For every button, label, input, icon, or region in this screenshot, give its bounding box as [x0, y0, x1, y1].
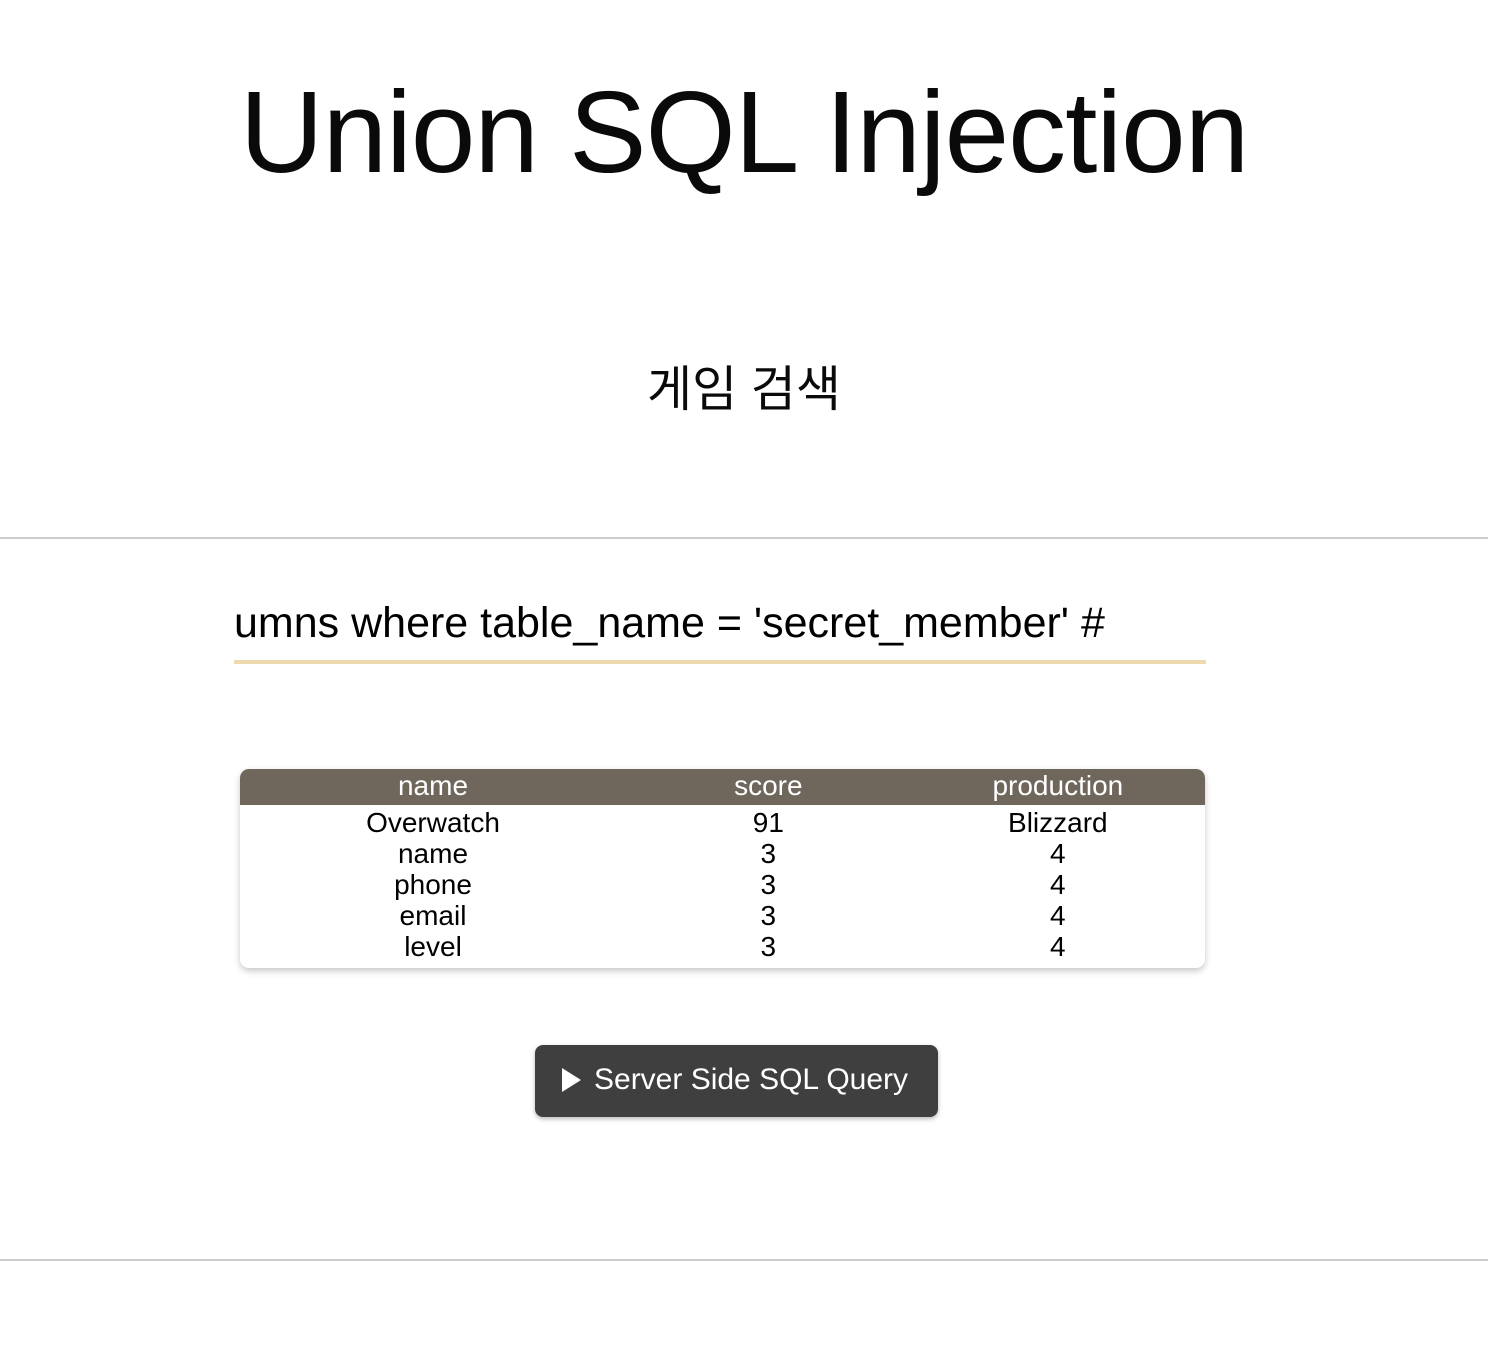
cell-score: 3 [626, 869, 911, 900]
cell-score: 3 [626, 900, 911, 931]
cell-score: 3 [626, 838, 911, 869]
cell-name: level [240, 931, 626, 968]
cell-production: Blizzard [911, 805, 1205, 838]
section-subtitle: 게임 검색 [0, 190, 1488, 415]
page-title: Union SQL Injection [0, 0, 1488, 190]
search-input[interactable] [234, 586, 1206, 664]
triangle-right-icon [562, 1068, 581, 1092]
server-side-query-disclosure[interactable]: Server Side SQL Query [535, 1045, 938, 1117]
table-row: Overwatch 91 Blizzard [240, 805, 1205, 838]
cell-production: 4 [911, 900, 1205, 931]
column-header-score: score [626, 769, 911, 805]
server-side-query-toggle[interactable]: Server Side SQL Query [535, 1045, 938, 1117]
cell-score: 3 [626, 931, 911, 968]
cell-production: 4 [911, 838, 1205, 869]
cell-name: name [240, 838, 626, 869]
server-side-query-label: Server Side SQL Query [594, 1063, 908, 1097]
cell-production: 4 [911, 931, 1205, 968]
cell-name: Overwatch [240, 805, 626, 838]
table-row: level 3 4 [240, 931, 1205, 968]
cell-name: email [240, 900, 626, 931]
search-form [234, 586, 1206, 664]
table-header-row: name score production [240, 769, 1205, 805]
cell-score: 91 [626, 805, 911, 838]
table-row: name 3 4 [240, 838, 1205, 869]
table-row: phone 3 4 [240, 869, 1205, 900]
search-results-table: name score production Overwatch 91 Blizz… [240, 769, 1205, 968]
column-header-production: production [911, 769, 1205, 805]
table-row: email 3 4 [240, 900, 1205, 931]
cell-production: 4 [911, 869, 1205, 900]
divider-bottom [0, 1259, 1488, 1261]
column-header-name: name [240, 769, 626, 805]
divider-top [0, 537, 1488, 539]
cell-name: phone [240, 869, 626, 900]
